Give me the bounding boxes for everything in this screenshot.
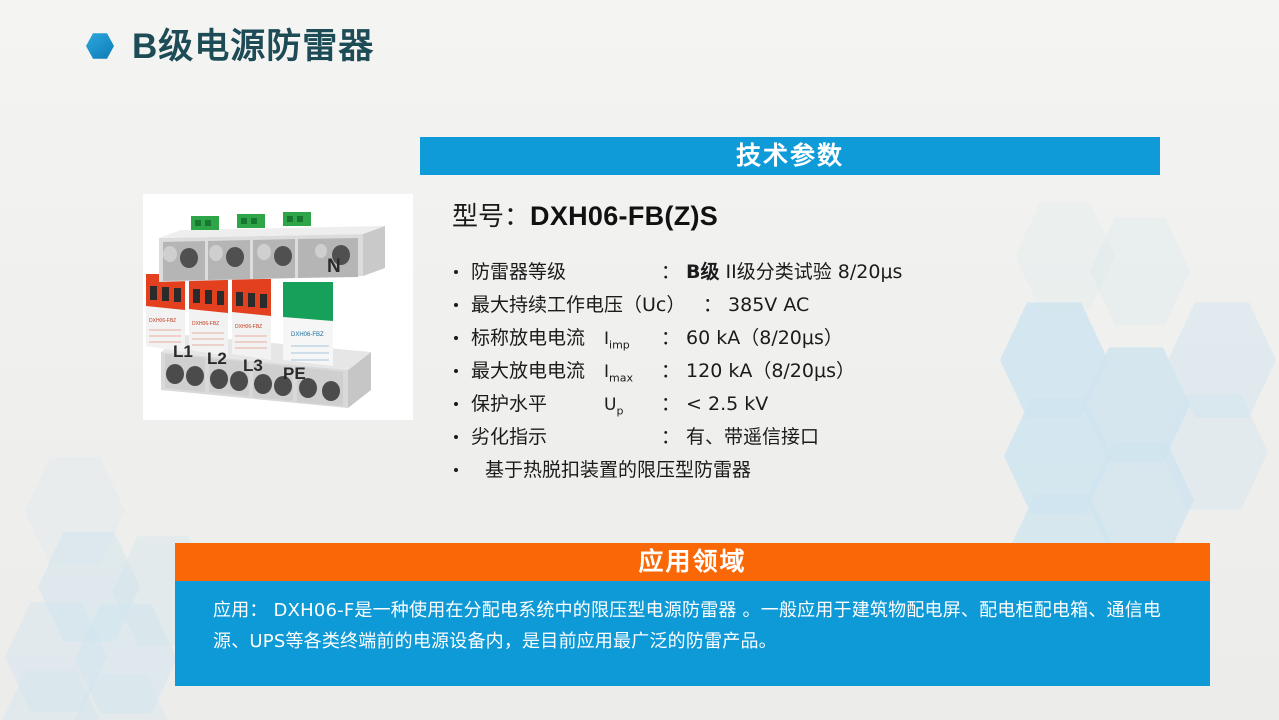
- application-body: 应用： DXH06-F是一种使用在分配电系统中的限压型电源防雷器 。一般应用于建…: [175, 581, 1210, 686]
- tech-section-heading: 技术参数: [420, 137, 1160, 175]
- spec-row: 防雷器等级：B级 II级分类试验 8/20μs: [452, 256, 982, 289]
- spd-module-illustration: DXH06-FBZ DXH06-FBZ DXH06-FBZ DXH06-FBZ: [143, 194, 413, 420]
- decorative-hexagon: [1004, 396, 1112, 516]
- pole-label-l1: L1: [173, 342, 193, 362]
- model-number-line: 型号：DXH06-FB(Z)S: [452, 203, 718, 230]
- decorative-hexagon: [1168, 300, 1276, 420]
- bullet-dot: [454, 402, 458, 406]
- decorative-hexagon: [25, 455, 125, 567]
- specification-list: 防雷器等级：B级 II级分类试验 8/20μs最大持续工作电压（Uc）：385V…: [452, 256, 982, 487]
- slide-title-bar: B级电源防雷器: [0, 14, 1279, 78]
- spec-name: 防雷器等级: [471, 256, 661, 289]
- spec-name: 最大放电电流: [471, 355, 604, 388]
- spec-value: < 2.5 kV: [686, 388, 768, 421]
- decorative-hexagon: [1090, 215, 1190, 327]
- application-text: 应用： DXH06-F是一种使用在分配电系统中的限压型电源防雷器 。一般应用于建…: [213, 595, 1186, 657]
- slide-canvas: B级电源防雷器: [0, 0, 1279, 720]
- svg-text:DXH06-FBZ: DXH06-FBZ: [291, 332, 324, 338]
- application-section-heading: 应用领域: [175, 543, 1210, 581]
- spec-row: 最大持续工作电压（Uc）：385V AC: [452, 289, 982, 322]
- spec-value: 60 kA（8/20μs）: [686, 322, 843, 355]
- model-label: 型号：: [452, 202, 530, 232]
- spec-separator: ：: [661, 261, 680, 283]
- technical-parameters-panel: 技术参数: [420, 137, 1160, 175]
- bullet-dot: [454, 468, 458, 472]
- spec-value: 385V AC: [728, 289, 809, 322]
- model-value: DXH06-FB(Z)S: [530, 201, 718, 231]
- spec-name: 最大持续工作电压（Uc）: [471, 289, 703, 322]
- spec-separator: ：: [703, 294, 722, 316]
- svg-text:DXH06-FBZ: DXH06-FBZ: [235, 324, 262, 330]
- spec-name: 保护水平: [471, 388, 604, 421]
- spec-separator: ：: [661, 360, 680, 382]
- svg-text:DXH06-FBZ: DXH06-FBZ: [149, 318, 176, 324]
- pole-label-pe: PE: [283, 364, 306, 384]
- bullet-dot: [454, 270, 458, 274]
- bullet-dot: [454, 336, 458, 340]
- bullet-dot: [454, 369, 458, 373]
- spec-row: 劣化指示：有、带遥信接口: [452, 421, 982, 454]
- decorative-hexagon: [1015, 200, 1115, 312]
- spec-row: 基于热脱扣装置的限压型防雷器: [452, 454, 982, 487]
- bullet-dot: [454, 435, 458, 439]
- neutral-label-n: N: [327, 256, 341, 278]
- bullet-dot: [454, 303, 458, 307]
- decorative-hexagon: [1086, 440, 1194, 560]
- spec-row: 最大放电电流Imax：120 kA（8/20μs）: [452, 355, 982, 388]
- product-image: DXH06-FBZ DXH06-FBZ DXH06-FBZ DXH06-FBZ: [143, 194, 413, 420]
- decorative-hexagon: [1082, 345, 1190, 465]
- spec-name: 基于热脱扣装置的限压型防雷器: [471, 454, 751, 487]
- spec-name: 标称放电电流: [471, 322, 604, 355]
- spec-value: 120 kA（8/20μs）: [686, 355, 855, 388]
- decorative-hexagon: [1000, 300, 1108, 420]
- decorative-hexagon: [38, 530, 140, 644]
- spec-value: 有、带遥信接口: [686, 421, 819, 454]
- decorative-hexagon: [1160, 392, 1268, 512]
- spec-row: 保护水平Up：< 2.5 kV: [452, 388, 982, 421]
- pole-label-l2: L2: [207, 349, 227, 369]
- decorative-hexagon: [0, 668, 102, 720]
- decorative-hexagon: [75, 602, 177, 716]
- decorative-hexagon: [5, 600, 107, 714]
- application-panel: 应用领域 应用： DXH06-F是一种使用在分配电系统中的限压型电源防雷器 。一…: [175, 543, 1210, 686]
- spec-row: 标称放电电流Iimp：60 kA（8/20μs）: [452, 322, 982, 355]
- spec-separator: ：: [661, 393, 680, 415]
- decorative-hexagon: [70, 672, 172, 720]
- spec-value: B级 II级分类试验 8/20μs: [686, 256, 902, 289]
- spec-separator: ：: [661, 426, 680, 448]
- hexagon-icon: [86, 33, 114, 60]
- svg-text:DXH06-FBZ: DXH06-FBZ: [192, 321, 219, 327]
- spec-separator: ：: [661, 327, 680, 349]
- spec-name: 劣化指示: [471, 421, 661, 454]
- page-title: B级电源防雷器: [132, 29, 374, 64]
- pole-label-l3: L3: [243, 356, 263, 376]
